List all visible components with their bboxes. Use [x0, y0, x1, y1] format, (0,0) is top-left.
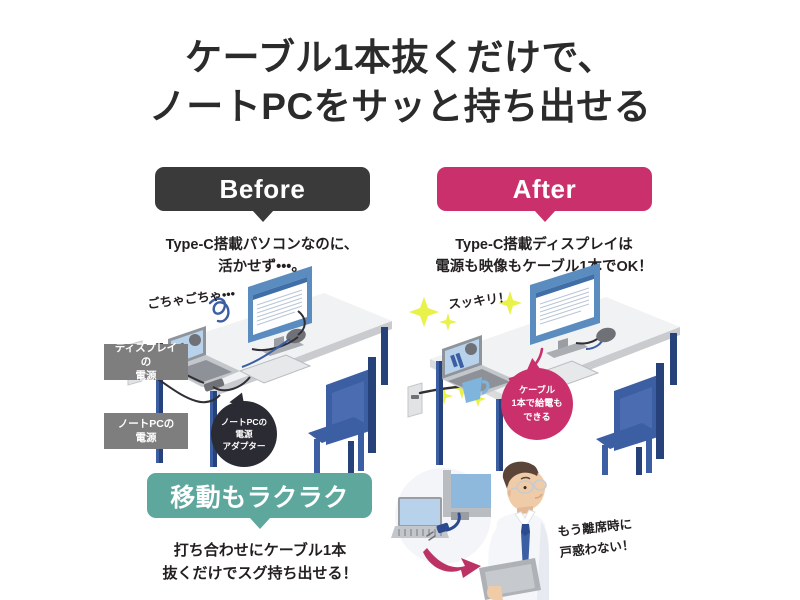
after-caption-line-2: 電源も映像もケーブル1本でOK！	[435, 259, 652, 275]
bottom-caption-line-1: 打ち合わせにケーブル1本	[174, 542, 346, 559]
move-easily-label: 移動もラクラク	[170, 478, 349, 514]
after-badge: After	[437, 167, 652, 211]
unplug-zoom-circle	[391, 468, 491, 578]
person-note-line-2: 戸惑わない！	[559, 538, 635, 560]
bottom-caption: 打ち合わせにケーブル1本 抜くだけでスグ持ち出せる！	[130, 540, 390, 585]
page-title-line-2: ノートPCをサッと持ち出せる	[0, 83, 800, 132]
move-easily-banner: 移動もラクラク	[147, 473, 372, 518]
move-easily-pointer	[249, 517, 271, 529]
person-note-line-1: もう離席時に	[557, 517, 633, 539]
chair-before	[308, 357, 376, 473]
label-notepc-power-line-2: 電源	[136, 432, 157, 444]
infographic-canvas: ケーブル1本抜くだけで、 ノートPCをサッと持ち出せる Before Type-…	[0, 0, 800, 600]
callout-cable-line-1: ケーブル	[519, 385, 555, 395]
callout-power-adapter: ノートPCの 電源 アダプター	[211, 401, 277, 467]
callout-cable-line-2: 1本で給電も	[511, 398, 562, 408]
after-badge-pointer	[534, 210, 556, 222]
after-caption-line-1: Type-C搭載ディスプレイは	[455, 237, 633, 253]
label-notepc-power-line-1: ノートPCの	[118, 418, 175, 430]
before-badge: Before	[155, 167, 370, 211]
before-caption: Type-C搭載パソコンなのに、 活かせず•••。	[132, 235, 392, 279]
wall-outlet-after	[408, 383, 422, 417]
callout-cable-line-3: できる	[523, 412, 550, 422]
callout-adapter-line-1: ノートPCの	[221, 417, 267, 427]
callout-single-cable-power: ケーブル 1本で給電も できる	[501, 368, 573, 440]
before-caption-line-1: Type-C搭載パソコンなのに、	[166, 237, 359, 253]
callout-adapter-line-2: 電源	[235, 429, 252, 439]
page-title: ケーブル1本抜くだけで、 ノートPCをサッと持ち出せる	[0, 34, 800, 132]
label-display-power: ディスプレイの 電源	[104, 344, 188, 380]
before-badge-label: Before	[220, 174, 306, 205]
after-caption: Type-C搭載ディスプレイは 電源も映像もケーブル1本でOK！	[414, 235, 674, 279]
callout-adapter-line-3: アダプター	[223, 441, 266, 451]
after-badge-label: After	[513, 174, 577, 205]
page-title-line-1: ケーブル1本抜くだけで、	[185, 37, 615, 78]
label-display-power-line-2: 電源	[136, 370, 157, 382]
callout-single-cable-pointer	[524, 357, 541, 373]
bottom-caption-line-2: 抜くだけでスグ持ち出せる！	[162, 565, 357, 582]
before-badge-pointer	[252, 210, 274, 222]
label-notepc-power: ノートPCの 電源	[104, 413, 188, 449]
label-display-power-line-1: ディスプレイの	[115, 342, 177, 368]
chair-after	[596, 363, 664, 475]
